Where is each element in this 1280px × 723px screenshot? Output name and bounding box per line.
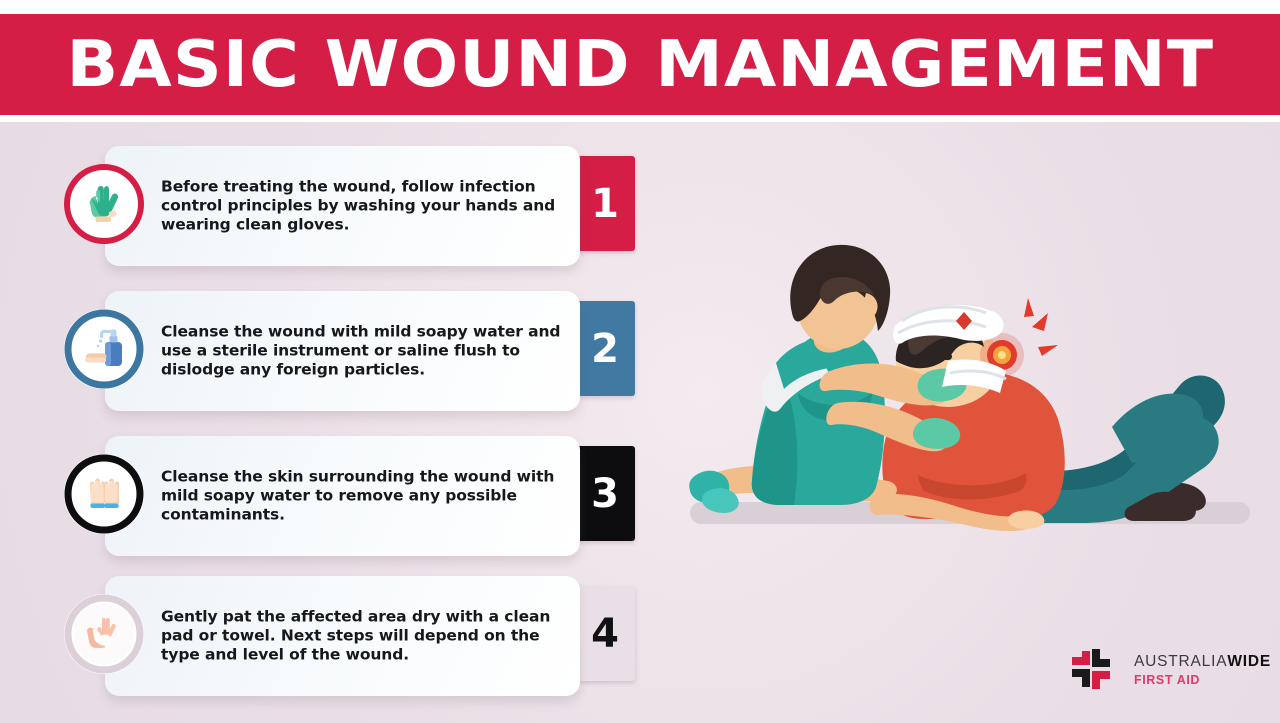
gloves-icon xyxy=(64,164,144,244)
logo-wordmark: AUSTRALIAWIDE FIRST AID xyxy=(1134,654,1271,686)
step-card-3: Cleanse the skin surrounding the wound w… xyxy=(105,436,580,556)
logo-wide: WIDE xyxy=(1227,653,1271,670)
step-number-badge-2: 2 xyxy=(575,301,635,396)
step-card-2: Cleanse the wound with mild soapy water … xyxy=(105,291,580,411)
drying-hands-icon xyxy=(64,594,144,674)
step-number-4: 4 xyxy=(591,611,619,657)
step-item-4[interactable]: 4 Gently pat the affected area dry with … xyxy=(0,568,660,708)
logo-line-1: AUSTRALIAWIDE xyxy=(1134,654,1271,670)
australia-wide-cross-logo-icon xyxy=(1068,647,1114,693)
logo-line-2: FIRST AID xyxy=(1134,674,1271,687)
step-text-1: Before treating the wound, follow infect… xyxy=(161,178,561,235)
page-title: BASIC WOUND MANAGEMENT xyxy=(66,33,1214,97)
step-item-1[interactable]: 1 Before treating the wound, follow infe… xyxy=(0,138,660,278)
step-number-1: 1 xyxy=(591,181,619,227)
logo-australia: AUSTRALIA xyxy=(1134,653,1227,670)
step-card-1: Before treating the wound, follow infect… xyxy=(105,146,580,266)
open-hands-icon xyxy=(64,454,144,534)
step-number-2: 2 xyxy=(591,326,619,372)
step-text-4: Gently pat the affected area dry with a … xyxy=(161,608,561,665)
header-band: BASIC WOUND MANAGEMENT xyxy=(0,14,1280,115)
steps-list: 1 Before treating the wound, follow infe… xyxy=(0,130,660,720)
step-number-badge-1: 1 xyxy=(575,156,635,251)
step-number-badge-3: 3 xyxy=(575,446,635,541)
step-card-4: Gently pat the affected area dry with a … xyxy=(105,576,580,696)
step-number-badge-4: 4 xyxy=(575,586,635,681)
step-number-3: 3 xyxy=(591,471,619,517)
australia-wide-first-aid-logo[interactable]: AUSTRALIAWIDE FIRST AID xyxy=(1068,645,1268,695)
step-text-3: Cleanse the skin surrounding the wound w… xyxy=(161,468,561,525)
first-aider-bandaging-patient-head xyxy=(680,175,1280,545)
soap-dispenser-icon xyxy=(64,309,144,389)
step-item-3[interactable]: 3 Cleanse the skin surrounding the wound… xyxy=(0,428,660,568)
step-item-2[interactable]: 2 Cleanse the wound with mild soapy wate… xyxy=(0,283,660,423)
step-text-2: Cleanse the wound with mild soapy water … xyxy=(161,323,561,380)
